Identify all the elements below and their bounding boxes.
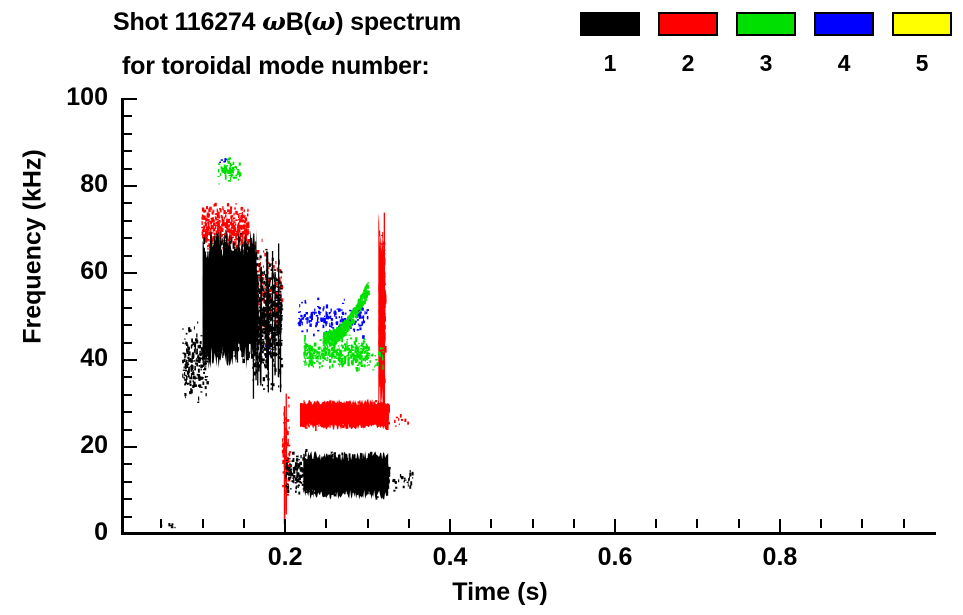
y-tick-label: 40 [48, 344, 108, 373]
x-tick-major [614, 519, 616, 533]
legend-item-3[interactable]: 3 [736, 12, 796, 77]
y-tick-minor [124, 307, 132, 309]
legend-swatch-1 [580, 12, 640, 36]
legend-swatch-5 [892, 12, 952, 36]
x-tick-minor [903, 519, 905, 528]
legend-label-5: 5 [892, 50, 952, 77]
y-tick-label: 0 [48, 518, 108, 547]
y-tick-minor [124, 516, 132, 518]
x-tick-label: 0.6 [575, 543, 655, 572]
y-tick-minor [124, 429, 132, 431]
x-tick-minor [367, 519, 369, 528]
y-tick-minor [124, 463, 132, 465]
y-tick-minor [124, 220, 132, 222]
title-part-pre: Shot 116274 [113, 8, 262, 36]
y-tick-minor [124, 168, 132, 170]
legend-item-1[interactable]: 1 [580, 12, 640, 77]
title-part-mid: B( [286, 8, 312, 36]
x-tick-minor [861, 519, 863, 528]
legend-item-4[interactable]: 4 [814, 12, 874, 77]
plot-area [121, 99, 935, 534]
chart-title-line-2: for toroidal mode number: [122, 52, 430, 81]
title-part-post: ) spectrum [335, 8, 461, 36]
legend-label-4: 4 [814, 50, 874, 77]
legend-label-2: 2 [658, 50, 718, 77]
x-tick-minor [573, 519, 575, 528]
legend-label-3: 3 [736, 50, 796, 77]
x-tick-minor [160, 519, 162, 528]
y-tick-major [124, 446, 137, 448]
x-axis-title: Time (s) [400, 578, 600, 607]
x-tick-minor [408, 519, 410, 528]
legend-item-5[interactable]: 5 [892, 12, 952, 77]
x-tick-minor [820, 519, 822, 528]
y-tick-major [124, 359, 137, 361]
x-tick-minor [490, 519, 492, 528]
y-tick-minor [124, 481, 132, 483]
legend-swatch-2 [658, 12, 718, 36]
y-tick-minor [124, 133, 132, 135]
x-tick-label: 0.2 [245, 543, 325, 572]
y-tick-major [124, 185, 137, 187]
y-tick-label: 100 [48, 83, 108, 112]
y-tick-label: 80 [48, 170, 108, 199]
x-tick-minor [738, 519, 740, 528]
y-tick-label: 20 [48, 431, 108, 460]
x-tick-major [449, 519, 451, 533]
x-tick-label: 0.8 [740, 543, 820, 572]
y-tick-minor [124, 498, 132, 500]
y-axis-title: Frequency (kHz) [19, 122, 48, 372]
y-tick-minor [124, 324, 132, 326]
x-tick-minor [325, 519, 327, 528]
legend-swatch-4 [814, 12, 874, 36]
x-tick-minor [243, 519, 245, 528]
x-tick-minor [696, 519, 698, 528]
y-tick-major [124, 98, 137, 100]
y-tick-minor [124, 115, 132, 117]
x-tick-minor [655, 519, 657, 528]
y-tick-minor [124, 376, 132, 378]
omega-symbol-1: ω [262, 7, 286, 36]
figure-root: Shot 116274 ωB(ω) spectrum for toroidal … [0, 0, 963, 615]
x-tick-minor [202, 519, 204, 528]
y-tick-label: 60 [48, 257, 108, 286]
x-tick-minor [532, 519, 534, 528]
y-tick-minor [124, 411, 132, 413]
omega-symbol-2: ω [312, 7, 336, 36]
y-tick-minor [124, 289, 132, 291]
x-tick-major [779, 519, 781, 533]
y-tick-major [124, 533, 137, 535]
chart-title-line-1: Shot 116274 ωB(ω) spectrum [113, 7, 461, 37]
y-tick-minor [124, 342, 132, 344]
legend-item-2[interactable]: 2 [658, 12, 718, 77]
spectrogram-data [121, 99, 935, 534]
y-tick-minor [124, 150, 132, 152]
x-tick-major [284, 519, 286, 533]
y-tick-minor [124, 255, 132, 257]
legend-swatch-3 [736, 12, 796, 36]
y-tick-minor [124, 202, 132, 204]
y-tick-major [124, 272, 137, 274]
y-tick-minor [124, 237, 132, 239]
legend: 12345 [580, 12, 952, 90]
legend-label-1: 1 [580, 50, 640, 77]
y-tick-minor [124, 394, 132, 396]
x-tick-label: 0.4 [410, 543, 490, 572]
series-1 [161, 228, 413, 528]
